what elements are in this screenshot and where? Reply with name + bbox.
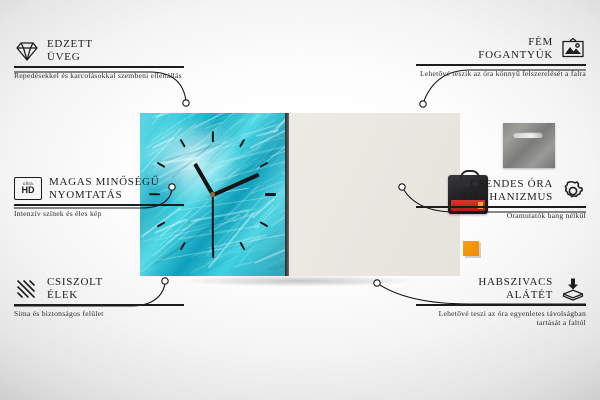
polished-edges-icon xyxy=(14,277,40,301)
clock-tick xyxy=(211,131,213,142)
feature-description: Repedésekkel és karcolásokkal szembeni e… xyxy=(14,71,184,81)
feature-description: Lehetővé teszi az óra egyenletes távolsá… xyxy=(416,309,586,328)
feature-tempered-glass: EDZETTÜVEG Repedésekkel és karcolásokkal… xyxy=(14,38,184,80)
hanger-slot xyxy=(513,132,543,138)
feature-header: FÉMFOGANTYÚK xyxy=(416,36,586,61)
feature-header: HABSZIVACSALÁTÉT xyxy=(416,276,586,301)
feature-header: CSISZOLTÉLEK xyxy=(14,276,184,301)
metal-hanger-plate xyxy=(503,123,555,168)
feature-header: CSENDES ÓRAMECHANIZMUS xyxy=(416,178,586,203)
foam-pad-icon xyxy=(560,277,586,301)
divider xyxy=(14,204,184,206)
feature-title: HABSZIVACSALÁTÉT xyxy=(478,276,553,301)
diamond-icon xyxy=(14,39,40,63)
feature-polished-edges: CSISZOLTÉLEK Sima és biztonságos felület xyxy=(14,276,184,318)
foam-pad xyxy=(463,241,479,256)
gear-icon xyxy=(560,179,586,203)
clock-hub xyxy=(210,192,215,197)
divider xyxy=(14,304,184,306)
feature-silent-mechanism: CSENDES ÓRAMECHANIZMUS Óramutatók hang n… xyxy=(416,178,586,220)
feature-foam-backing: HABSZIVACSALÁTÉT Lehetővé teszi az óra e… xyxy=(416,276,586,328)
infographic-canvas: EDZETTÜVEG Repedésekkel és karcolásokkal… xyxy=(0,0,600,400)
second-hand xyxy=(212,194,214,249)
feature-header: EDZETTÜVEG xyxy=(14,38,184,63)
feature-header: ultra HD MAGAS MINŐSÉGŰNYOMTATÁS xyxy=(14,176,184,201)
feature-description: Lehetővé teszik az óra könnyű felszerelé… xyxy=(416,69,586,79)
divider xyxy=(416,64,586,66)
feature-title: MAGAS MINŐSÉGŰNYOMTATÁS xyxy=(49,176,159,201)
divider xyxy=(416,206,586,208)
clock-tick xyxy=(265,193,276,195)
ultra-hd-icon: ultra HD xyxy=(14,177,42,200)
ultra-hd-bottom-label: HD xyxy=(22,186,35,195)
feature-title: CSISZOLTÉLEK xyxy=(47,276,103,301)
feature-high-quality-print: ultra HD MAGAS MINŐSÉGŰNYOMTATÁS Intenzí… xyxy=(14,176,184,218)
divider xyxy=(416,304,586,306)
divider xyxy=(14,66,184,68)
product-image xyxy=(140,113,460,281)
feature-description: Intenzív színek és éles kép xyxy=(14,209,184,219)
picture-hanger-icon xyxy=(560,37,586,61)
feature-description: Óramutatók hang nélkül xyxy=(416,211,586,221)
feature-title: EDZETTÜVEG xyxy=(47,38,93,63)
feature-metal-handles: FÉMFOGANTYÚK Lehetővé teszik az óra könn… xyxy=(416,36,586,78)
feature-title: CSENDES ÓRAMECHANIZMUS xyxy=(463,178,553,203)
feature-description: Sima és biztonságos felület xyxy=(14,309,184,319)
feature-title: FÉMFOGANTYÚK xyxy=(478,36,553,61)
